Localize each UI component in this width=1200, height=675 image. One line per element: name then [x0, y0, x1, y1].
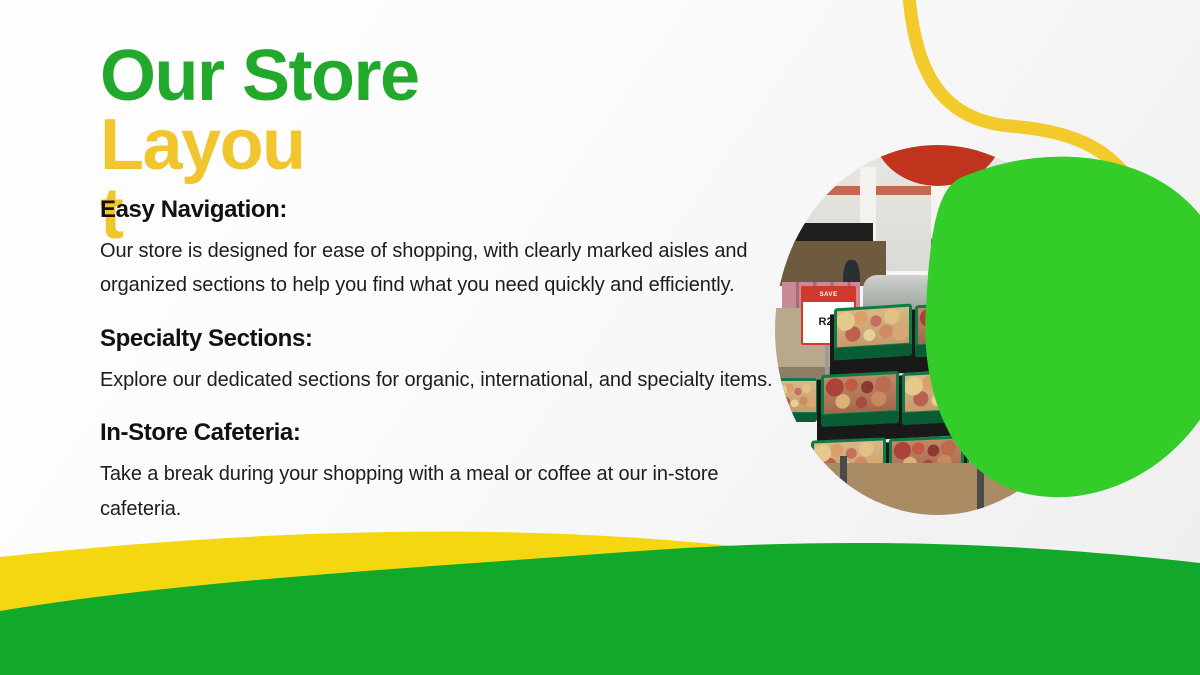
price-card-right-price: R2499 — [998, 343, 1056, 387]
bottom-wave-decoration — [0, 515, 1200, 675]
page-title-line-2: Layou — [100, 111, 460, 180]
section-body: Our store is designed for ease of shoppi… — [100, 234, 780, 303]
slide-canvas: SAVE SAVE R23 — [0, 0, 1200, 675]
store-photo: SAVE SAVE R23 — [775, 145, 1100, 515]
price-card-left-label: SAVE — [803, 288, 854, 302]
price-cents: 99 — [1036, 354, 1044, 361]
section-in-store-cafeteria: In-Store Cafeteria: Take a break during … — [100, 419, 780, 526]
section-heading: Specialty Sections: — [100, 325, 780, 353]
produce-crate — [834, 304, 912, 361]
store-photo-image: SAVE SAVE R23 — [775, 145, 1100, 515]
section-specialty-sections: Specialty Sections: Explore our dedicate… — [100, 325, 780, 397]
produce-crate — [902, 369, 980, 425]
shelf-save-sign: SAVE — [931, 238, 1003, 262]
section-easy-navigation: Easy Navigation: Our store is designed f… — [100, 196, 780, 303]
section-heading: Easy Navigation: — [100, 196, 780, 224]
price-card-right: SAVE R2499 — [996, 326, 1058, 389]
wave-green — [0, 543, 1200, 675]
produce-crate — [821, 371, 899, 427]
green-sign-badge-icon — [1025, 165, 1045, 191]
section-body: Take a break during your shopping with a… — [100, 457, 780, 526]
section-body: Explore our dedicated sections for organ… — [100, 363, 780, 397]
wave-yellow — [0, 532, 1200, 675]
section-heading: In-Store Cafeteria: — [100, 419, 780, 447]
price-value: R24 — [1010, 346, 1036, 362]
content-list: Easy Navigation: Our store is designed f… — [100, 196, 780, 526]
page-title: Our Store Layou — [100, 42, 460, 180]
price-card-right-label: SAVE — [998, 328, 1056, 343]
produce-crate — [775, 378, 817, 422]
shelf-save-label: SAVE — [953, 245, 980, 255]
page-title-line-1: Our Store — [100, 42, 460, 111]
